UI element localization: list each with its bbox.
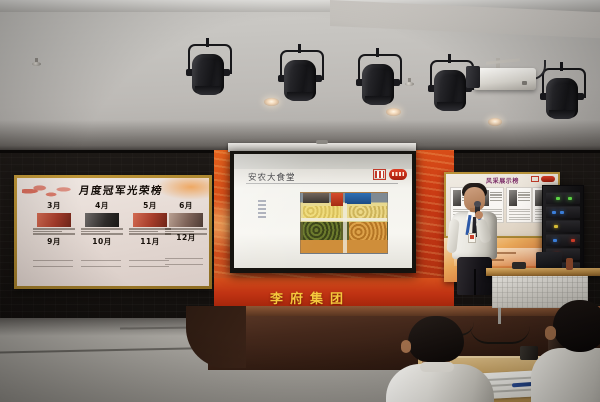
presentation-room-photo: 月度冠军光荣榜 3月 4月 5月 6月 9月 [0,0,600,402]
slide-top-band [234,154,412,169]
poster-month-cell: 9月 [31,236,77,247]
poster-month-cell: 12月 [163,232,209,243]
audience-collar [420,362,454,372]
slide-photo-cafeteria [300,192,388,254]
audience-member [386,316,494,402]
presenter-leg-split [474,269,476,295]
slide-title-rule [246,183,398,184]
slide-logo-oval-icon [389,169,407,180]
presenter-hand [475,211,483,219]
stage-banner-text: 李府集团 [270,288,350,307]
rack-unit[interactable] [546,192,580,204]
desk-cup[interactable] [566,258,573,270]
poster-profile-card [506,187,532,223]
stage-spotlight [278,48,322,108]
rack-unit[interactable] [546,234,580,246]
slide-title: 安农大食堂 [248,171,296,183]
right-poster-logo-oval-icon [541,176,555,182]
presenter-badge [468,233,476,243]
recessed-downlight [264,98,279,106]
left-poster-headline: 月度冠军光荣榜 [78,183,164,198]
poster-month-cell: 10月 [79,236,125,247]
rack-unit[interactable] [546,220,580,232]
right-poster-logo-square-icon [531,176,539,182]
microphone-head-icon [474,201,481,207]
projection-screen-surface: 安农大食堂 [234,154,412,268]
stage-spotlight [356,52,400,112]
rack-unit[interactable] [546,206,580,218]
audience-ear [401,340,411,353]
poster-month-cell: 6月 [163,200,209,236]
stage-spotlight [186,42,230,102]
left-wall-poster: 月度冠军光荣榜 3月 4月 5月 6月 9月 [14,175,212,289]
desk-small-object[interactable] [520,346,538,360]
stage-spotlight [540,66,584,126]
desk-monitor[interactable] [536,252,562,269]
audience-shirt [531,348,600,402]
poster-month-cell: 4月 [79,200,125,236]
audience-head [553,300,600,352]
desk-leg [498,308,501,324]
audience-head [408,316,464,362]
audience-member [545,300,600,402]
audience-ear [545,326,556,340]
screen-pull-knob[interactable] [316,140,328,144]
desk-item[interactable] [512,262,526,269]
slide-vertical-caption [258,198,266,220]
slide-logo-square-icon [373,169,386,180]
projection-screen-frame: 安农大食堂 [230,151,416,273]
av-desk-top [486,268,600,276]
sprinkler-head [32,58,41,67]
sprinkler-head [405,78,414,87]
poster-month-cell: 3月 [31,200,77,236]
ceiling-projector [466,58,544,98]
